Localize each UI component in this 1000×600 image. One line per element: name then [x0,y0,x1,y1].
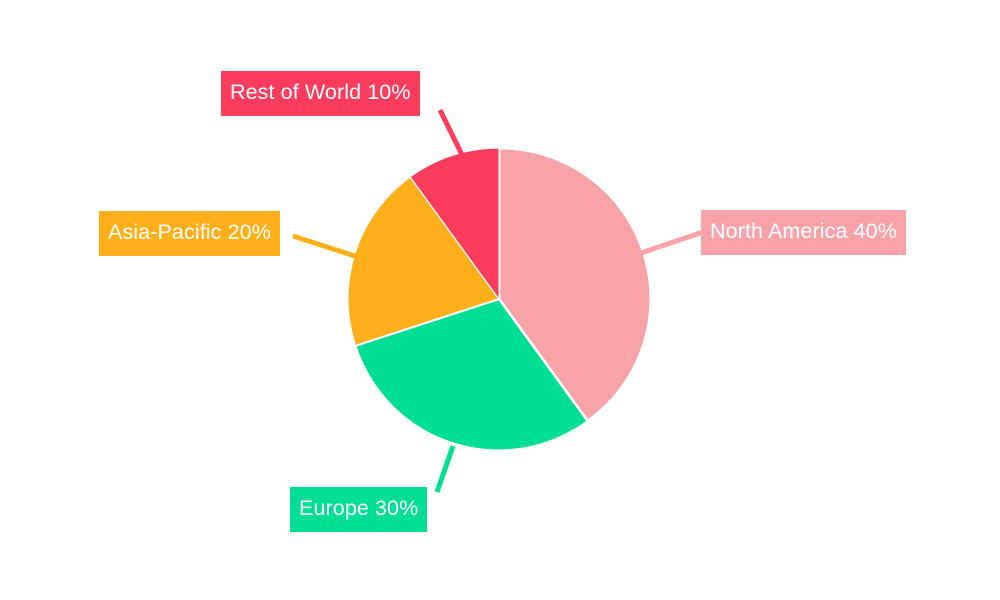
leader-line-asia-pacific [293,236,361,258]
pie-chart: North America 40% Europe 30% Asia-Pacifi… [0,0,1000,600]
pie-chart-canvas [0,0,1000,600]
leader-line-europe [437,446,453,492]
pie-wedges [349,149,650,450]
pie-label-north-america[interactable]: North America 40% [701,210,906,255]
pie-label-asia-pacific-text: Asia-Pacific 20% [108,220,271,244]
pie-label-north-america-text: North America 40% [710,219,897,243]
pie-label-europe[interactable]: Europe 30% [290,487,427,532]
pie-label-europe-text: Europe 30% [299,496,418,520]
leader-line-north-america [641,231,706,253]
pie-label-rest-of-world[interactable]: Rest of World 10% [221,71,420,116]
pie-label-rest-of-world-text: Rest of World 10% [230,80,411,104]
pie-label-asia-pacific[interactable]: Asia-Pacific 20% [99,211,280,256]
